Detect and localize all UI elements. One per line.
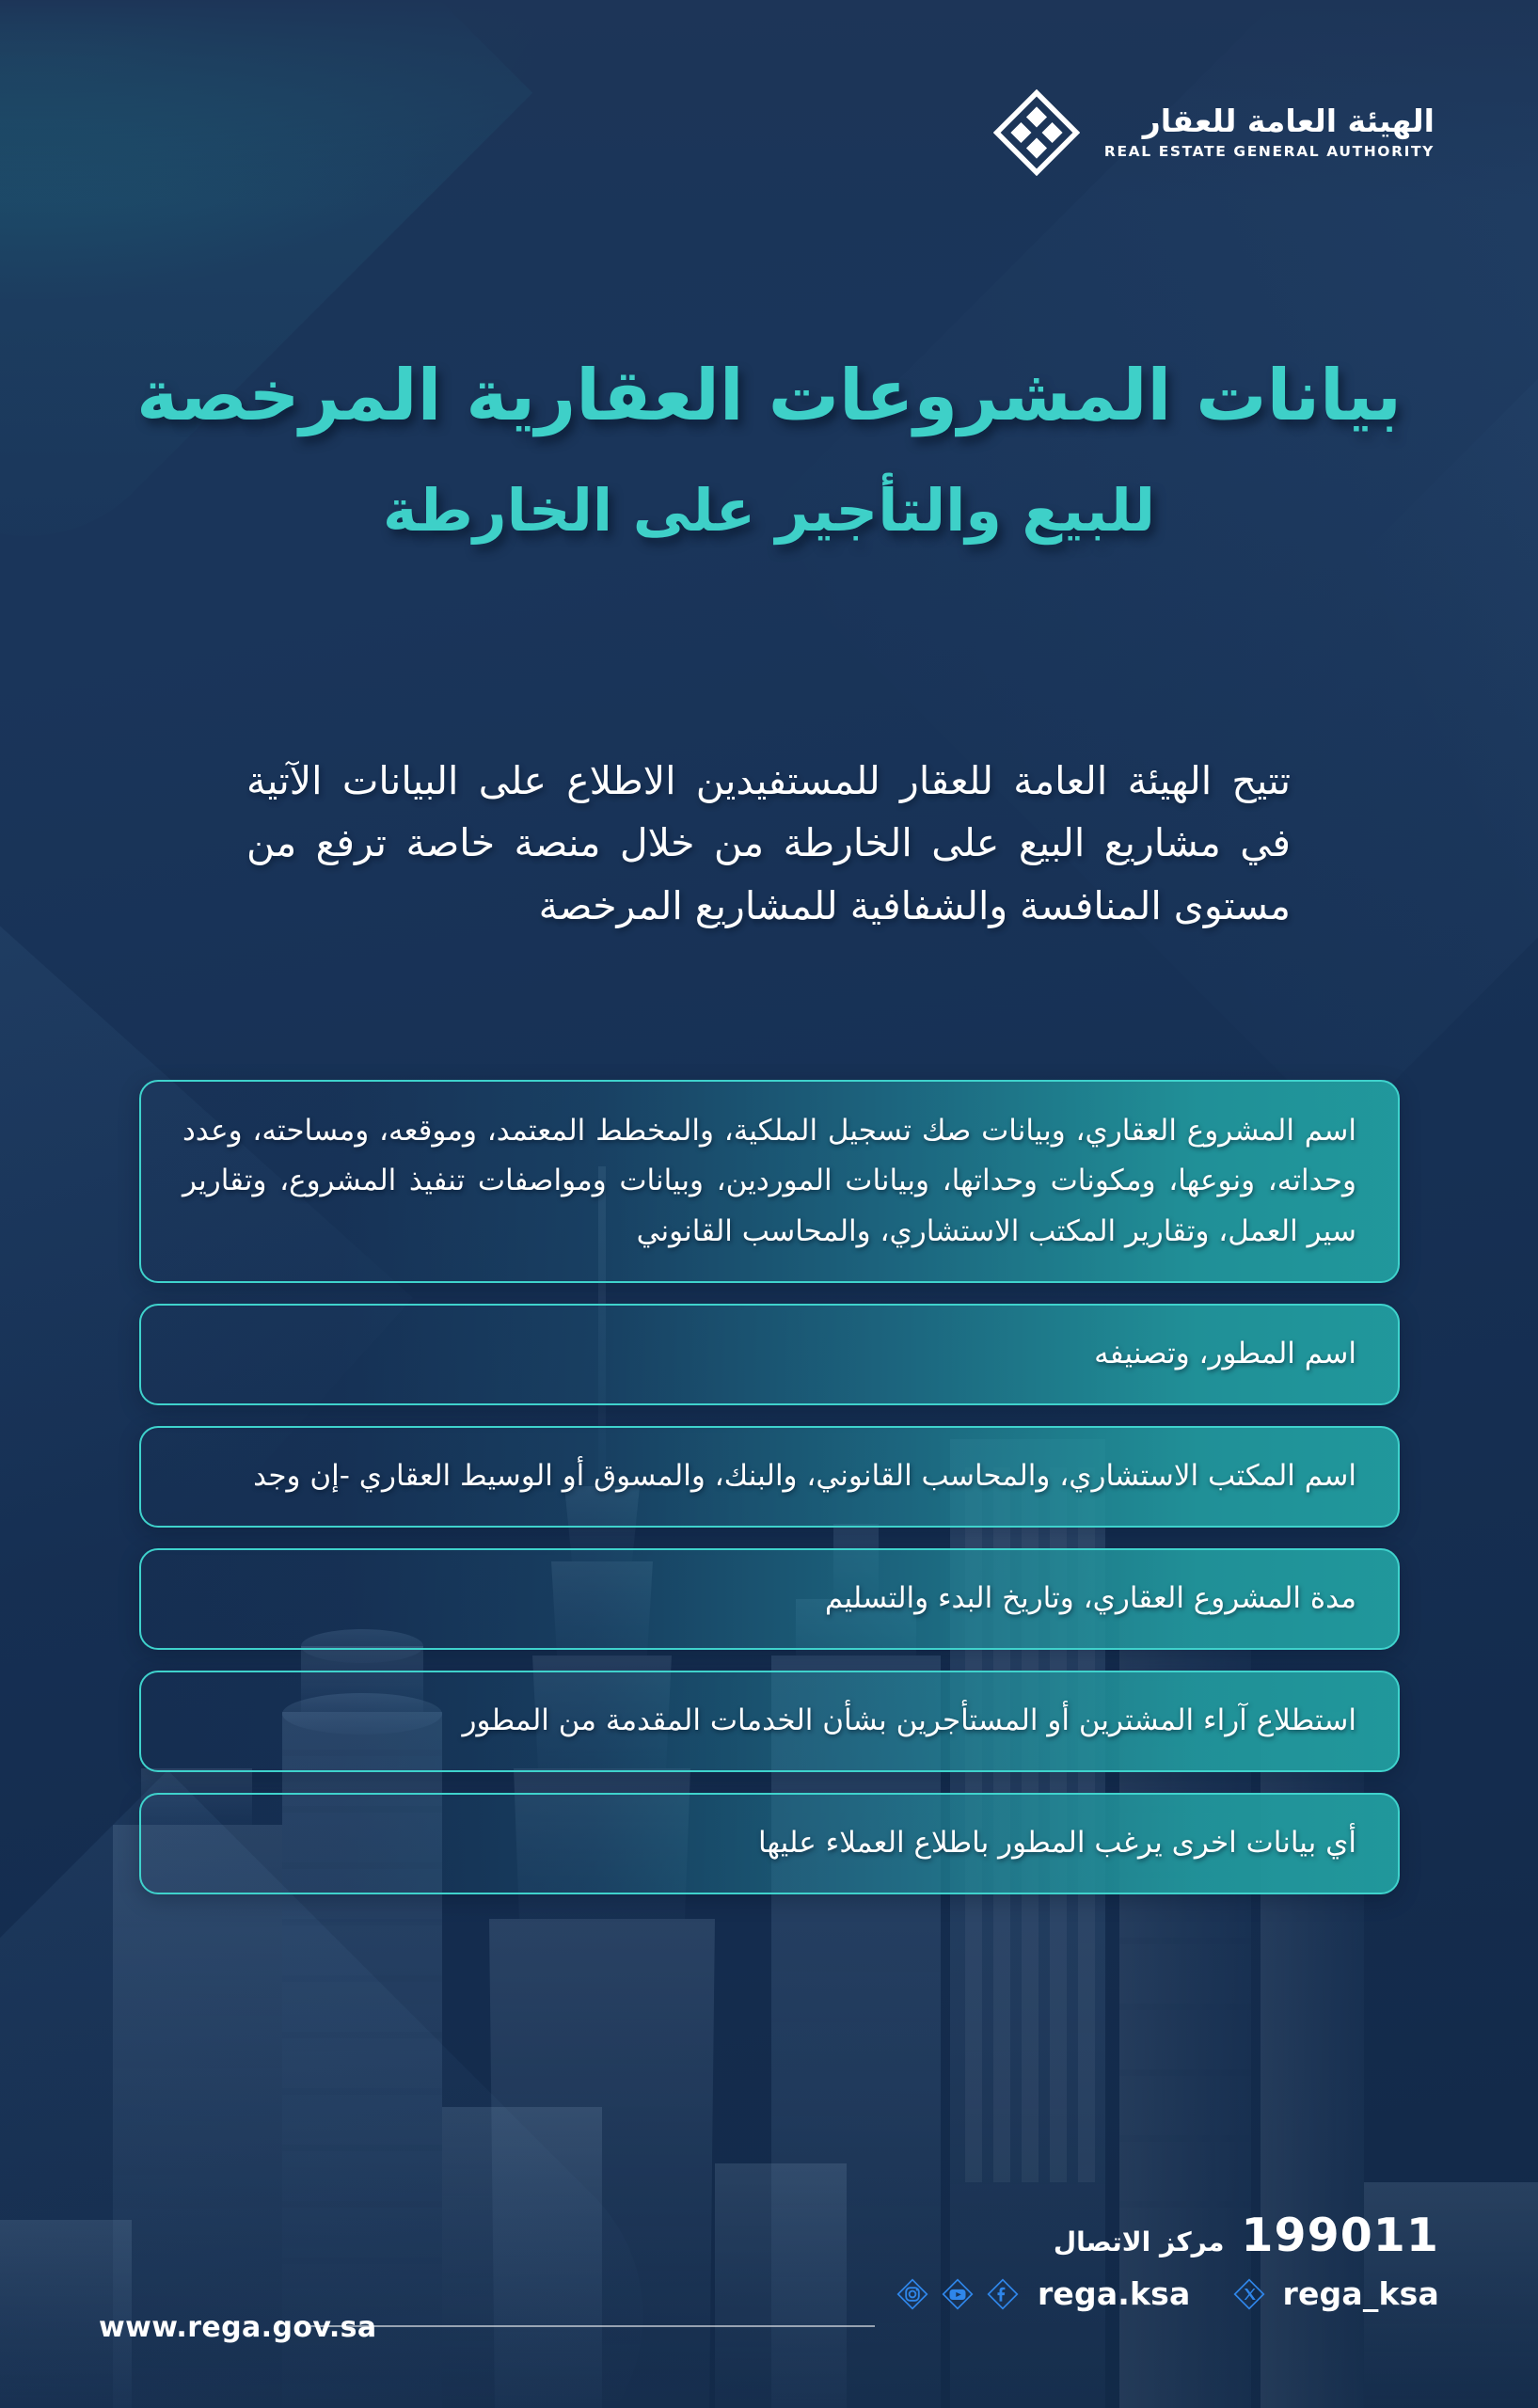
title-block: بيانات المشروعات العقارية المرخصة للبيع …	[0, 356, 1538, 546]
facebook-icon[interactable]	[987, 2278, 1019, 2310]
brand-logo: الهيئة العامة للعقار REAL ESTATE GENERAL…	[993, 89, 1435, 176]
social-links-row: rega.ksa rega_ksa	[896, 2275, 1439, 2312]
intro-paragraph: تتيح الهيئة العامة للعقار للمستفيدين الا…	[246, 750, 1291, 937]
contact-block: 199011 مركز الاتصال	[896, 2209, 1439, 2312]
header-bar: الهيئة العامة للعقار REAL ESTATE GENERAL…	[0, 0, 1538, 202]
data-items-list: اسم المشروع العقاري، وبيانات صك تسجيل ال…	[139, 1080, 1400, 1915]
x-twitter-icon[interactable]	[1233, 2278, 1265, 2310]
brand-name-english: REAL ESTATE GENERAL AUTHORITY	[1104, 143, 1435, 160]
footer-divider	[310, 2325, 875, 2327]
list-item-label: استطلاع آراء المشترين أو المستأجرين بشأن…	[182, 1696, 1356, 1746]
rega-diamond-logo-icon	[993, 89, 1080, 176]
website-url[interactable]: www.rega.gov.sa	[99, 2311, 377, 2344]
list-item[interactable]: أي بيانات اخرى يرغب المطور باطلاع العملا…	[139, 1793, 1400, 1894]
list-item[interactable]: اسم المكتب الاستشاري، والمحاسب القانوني،…	[139, 1426, 1400, 1528]
list-item-label: أي بيانات اخرى يرغب المطور باطلاع العملا…	[182, 1818, 1356, 1868]
list-item-label: اسم المطور، وتصنيفه	[182, 1329, 1356, 1379]
instagram-icon[interactable]	[896, 2278, 928, 2310]
social-handle-secondary[interactable]: rega_ksa	[1282, 2275, 1439, 2312]
footer-bar: 199011 مركز الاتصال	[0, 2182, 1538, 2408]
list-item[interactable]: اسم المشروع العقاري، وبيانات صك تسجيل ال…	[139, 1080, 1400, 1283]
brand-name-arabic: الهيئة العامة للعقار	[1104, 105, 1435, 138]
poster-root: الهيئة العامة للعقار REAL ESTATE GENERAL…	[0, 0, 1538, 2408]
page-subtitle: للبيع والتأجير على الخارطة	[0, 476, 1538, 546]
list-item-label: اسم المشروع العقاري، وبيانات صك تسجيل ال…	[182, 1106, 1356, 1257]
brand-logo-text: الهيئة العامة للعقار REAL ESTATE GENERAL…	[1104, 105, 1435, 160]
page-title: بيانات المشروعات العقارية المرخصة	[0, 356, 1538, 435]
call-center-label: مركز الاتصال	[1054, 2226, 1225, 2257]
youtube-icon[interactable]	[942, 2278, 974, 2310]
call-center-row: 199011 مركز الاتصال	[1054, 2209, 1439, 2262]
call-center-number[interactable]: 199011	[1241, 2209, 1439, 2262]
list-item[interactable]: مدة المشروع العقاري، وتاريخ البدء والتسل…	[139, 1548, 1400, 1650]
list-item[interactable]: استطلاع آراء المشترين أو المستأجرين بشأن…	[139, 1671, 1400, 1772]
list-item[interactable]: اسم المطور، وتصنيفه	[139, 1304, 1400, 1405]
list-item-label: اسم المكتب الاستشاري، والمحاسب القانوني،…	[182, 1451, 1356, 1501]
social-handle-primary[interactable]: rega.ksa	[1038, 2275, 1191, 2312]
list-item-label: مدة المشروع العقاري، وتاريخ البدء والتسل…	[182, 1574, 1356, 1624]
